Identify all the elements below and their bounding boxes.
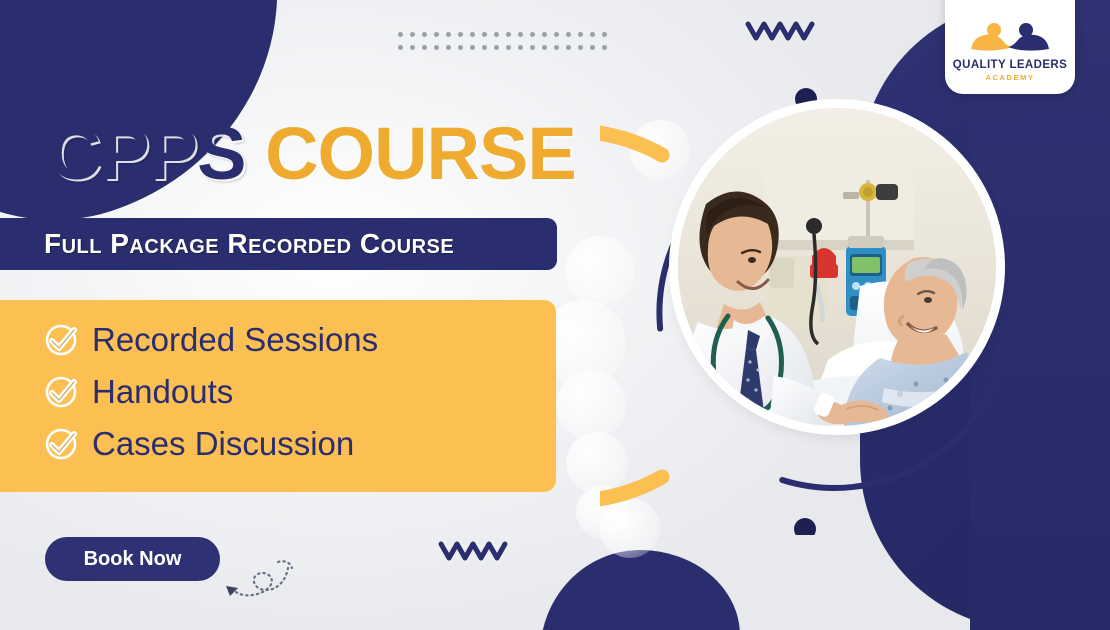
doctor-and-patient-photo [678,108,996,426]
subtitle-text: Full Package Recorded Course [44,228,454,260]
decor-navy-blob-bottom [540,550,740,630]
dot-grid-pattern [398,32,607,50]
photo-illustration [678,108,996,426]
yellow-arc-ring [600,131,662,501]
book-now-label: Book Now [84,548,182,571]
check-circle-icon [44,427,78,461]
list-item: Cases Discussion [44,418,556,470]
logo-name: QUALITY LEADERS [953,59,1067,71]
headline-primary: CPPS [48,112,246,195]
check-circle-icon [44,375,78,409]
check-circle-icon [44,323,78,357]
page-title: CPPS COURSE [48,117,576,191]
dotted-swirl-arrow-icon [222,548,302,607]
list-item: Handouts [44,366,556,418]
promotional-banner: CPPS COURSE Full Package Recorded Course… [0,0,1110,630]
logo-card: QUALITY LEADERS ACADEMY [945,0,1075,94]
features-panel: Recorded Sessions Handouts Cases Dis [0,300,556,492]
wave-squiggle-icon [437,536,511,569]
logo-subtitle: ACADEMY [985,73,1034,82]
feature-label: Recorded Sessions [92,321,378,359]
subtitle-bar: Full Package Recorded Course [0,218,557,270]
list-item: Recorded Sessions [44,314,556,366]
book-now-button[interactable]: Book Now [45,537,220,581]
feature-label: Handouts [92,373,233,411]
photo-composition [600,85,1020,535]
wave-squiggle-icon [744,16,818,49]
headline-secondary: COURSE [265,112,576,195]
two-people-swoosh-icon [967,22,1053,54]
feature-label: Cases Discussion [92,425,354,463]
